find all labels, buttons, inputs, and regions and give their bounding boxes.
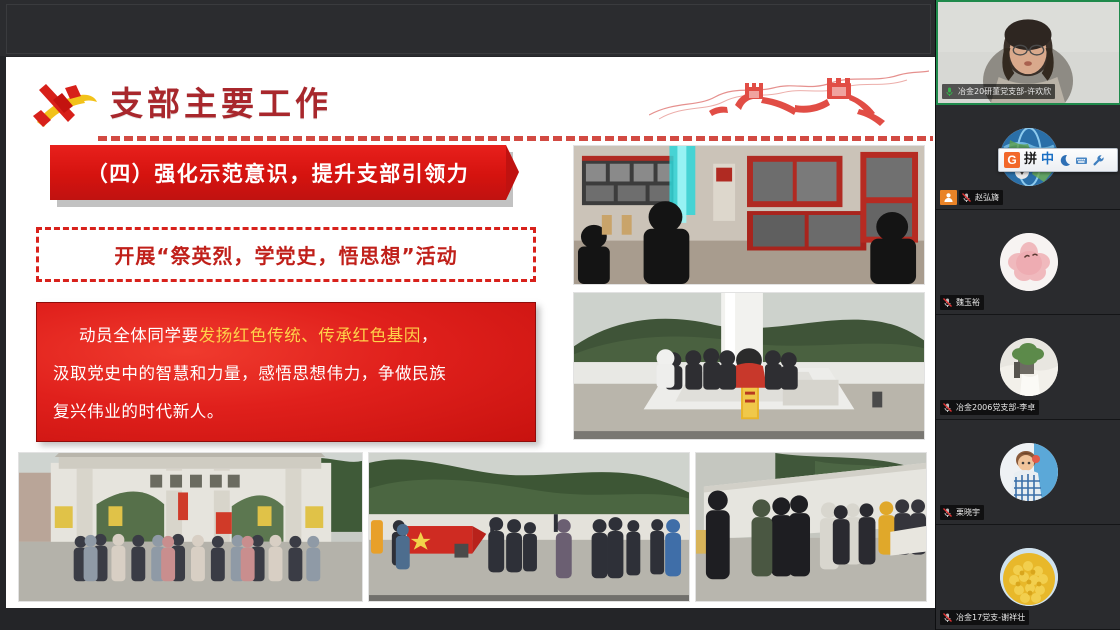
microphone-muted-icon — [942, 507, 953, 518]
paragraph-line-1-highlight: 发扬红色传统、传承红色基因 — [199, 326, 421, 345]
paragraph-card: 动员全体同学要发扬红色传统、传承红色基因， 汲取党史中的智慧和力量，感悟思想伟力… — [36, 302, 536, 442]
ime-logo-icon[interactable]: G — [1004, 152, 1020, 168]
keyboard-icon[interactable] — [1075, 154, 1088, 167]
shared-screen-stage[interactable]: 支部主要工作 — [0, 0, 935, 630]
letterbox-bottom — [0, 608, 935, 630]
participant-name-1: 冶金20研董党支部-许欢欣 — [958, 86, 1051, 97]
participant-namebar-4: 冶金2006党支部-李卓 — [940, 400, 1039, 415]
letterbox-top — [0, 0, 935, 56]
photo-museum — [573, 145, 925, 285]
participant-namebar-1: 冶金20研董党支部-许欢欣 — [942, 84, 1055, 99]
ime-toolbar[interactable]: G 拼 中 — [998, 148, 1118, 172]
microphone-icon — [944, 86, 955, 97]
slide-header: 支部主要工作 — [6, 57, 935, 139]
gold-coins-avatar-icon — [1000, 548, 1058, 606]
paragraph-line-2: 汲取党史中的智慧和力量，感悟思想伟力，争做民族 — [53, 355, 519, 393]
participant-namebar-2: 赵弘旖 — [959, 190, 1003, 205]
participant-filmstrip[interactable]: 冶金20研董党支部-许欢欣 — [935, 0, 1120, 630]
paragraph-line-3: 复兴伟业的时代新人。 — [53, 393, 519, 431]
photo-oath — [368, 452, 690, 602]
activity-dashed-text: 开展“祭英烈，学党史，悟思想”活动 — [114, 240, 457, 269]
ime-language-mode-button[interactable]: 中 — [1041, 152, 1054, 168]
microphone-muted-icon — [942, 402, 953, 413]
participant-name-5: 栗晓宇 — [956, 507, 980, 518]
participant-namebar-6: 冶金17党支-谢祥壮 — [940, 610, 1029, 625]
activity-dashed-box: 开展“祭英烈，学党史，悟思想”活动 — [36, 227, 536, 282]
microphone-muted-icon — [942, 612, 953, 623]
plant-photo-avatar-icon — [1000, 338, 1058, 396]
participant-name-3: 魏玉裕 — [956, 297, 980, 308]
paragraph-line-1-suffix: ， — [421, 326, 438, 345]
microphone-muted-icon — [942, 297, 953, 308]
wrench-icon[interactable] — [1092, 154, 1105, 167]
paragraph-line-1: 动员全体同学要发扬红色传统、传承红色基因， — [53, 317, 519, 355]
section-banner-text: （四）强化示范意识，提升支部引领力 — [87, 158, 470, 188]
slide-title: 支部主要工作 — [110, 77, 332, 125]
participant-name-2: 赵弘旖 — [975, 192, 999, 203]
participant-tile-3[interactable]: 魏玉裕 — [936, 210, 1120, 315]
microphone-muted-icon — [961, 192, 972, 203]
participant-tile-6[interactable]: 冶金17党支-谢祥壮 — [936, 525, 1120, 630]
photo-monument — [573, 292, 925, 440]
participant-name-4: 冶金2006党支部-李卓 — [956, 402, 1035, 413]
header-dashed-rule — [98, 136, 933, 141]
photo-gate — [18, 452, 363, 602]
paragraph-line-1-prefix: 动员全体同学要 — [79, 326, 199, 345]
cpc-hammer-sickle-emblem-icon — [26, 79, 104, 131]
participant-namebar-3: 魏玉裕 — [940, 295, 984, 310]
pink-flower-avatar-icon — [1000, 233, 1058, 291]
photo-wall — [695, 452, 927, 602]
participant-namebar-5: 栗晓宇 — [940, 505, 984, 520]
participant-tile-5[interactable]: 栗晓宇 — [936, 420, 1120, 525]
host-person-icon — [940, 190, 957, 205]
presentation-slide: 支部主要工作 — [6, 57, 935, 608]
participant-tile-1[interactable]: 冶金20研董党支部-许欢欣 — [936, 0, 1120, 105]
great-wall-illustration-icon — [649, 61, 929, 127]
ime-pinyin-mode-button[interactable]: 拼 — [1024, 152, 1037, 168]
moon-icon[interactable] — [1058, 154, 1071, 167]
section-banner: （四）强化示范意识，提升支部引领力 — [50, 145, 520, 207]
participant-tile-4[interactable]: 冶金2006党支部-李卓 — [936, 315, 1120, 420]
cartoon-person-avatar-icon — [1000, 443, 1058, 501]
participant-name-6: 冶金17党支-谢祥壮 — [956, 612, 1025, 623]
screen-root: 支部主要工作 — [0, 0, 1120, 630]
